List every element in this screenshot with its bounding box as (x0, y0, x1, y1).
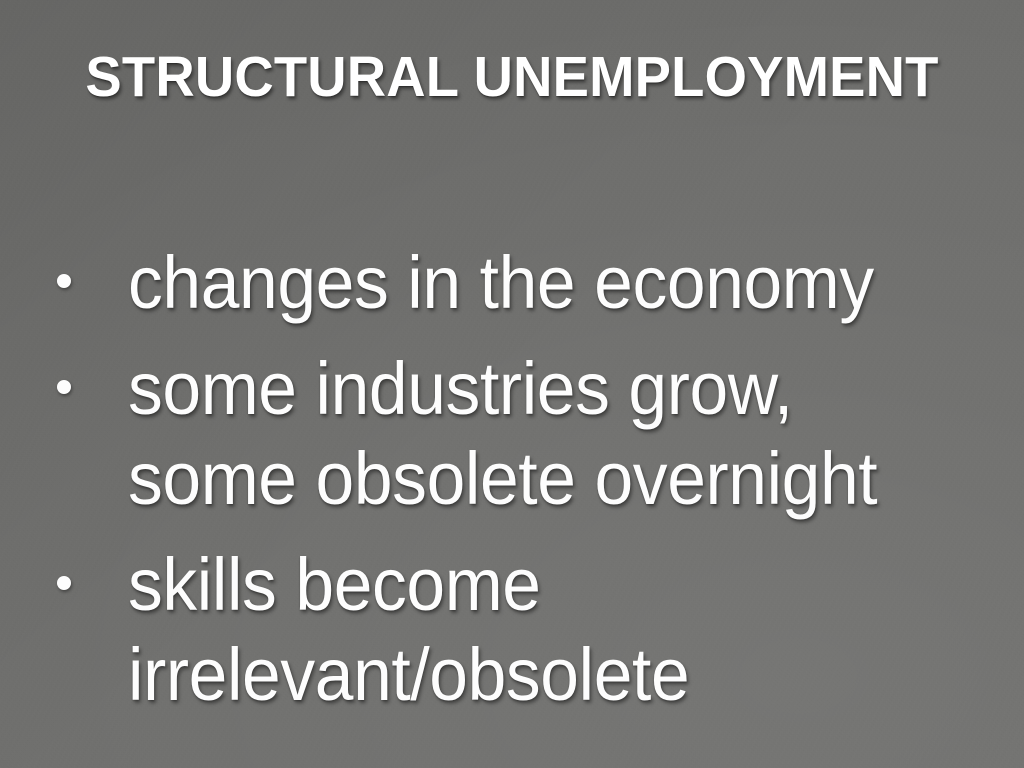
bullet-item-3-text: skills become irrelevant/obsolete (128, 540, 970, 720)
bullet-item-3-line-1: skills become (128, 540, 970, 630)
bullet-item-1: changes in the economy (0, 238, 1024, 328)
bullet-item-3-line-2: irrelevant/obsolete (128, 630, 970, 720)
presentation-slide: STRUCTURAL UNEMPLOYMENT changes in the e… (0, 0, 1024, 768)
bullet-dot-icon (57, 274, 71, 288)
bullet-item-2-line-1: some industries grow, (128, 344, 970, 434)
bullet-item-2: some industries grow, some obsolete over… (0, 344, 1024, 524)
bullet-dot-icon (57, 576, 71, 590)
bullet-dot-icon (57, 380, 71, 394)
bullet-item-2-text: some industries grow, some obsolete over… (128, 344, 970, 524)
slide-title: STRUCTURAL UNEMPLOYMENT (23, 49, 1001, 106)
bullet-item-1-text: changes in the economy (128, 238, 970, 328)
bullet-item-3: skills become irrelevant/obsolete (0, 540, 1024, 720)
bullet-item-2-line-2: some obsolete overnight (128, 434, 970, 524)
bullet-item-1-line-1: changes in the economy (128, 238, 970, 328)
bullet-list: changes in the economy some industries g… (0, 238, 1024, 720)
